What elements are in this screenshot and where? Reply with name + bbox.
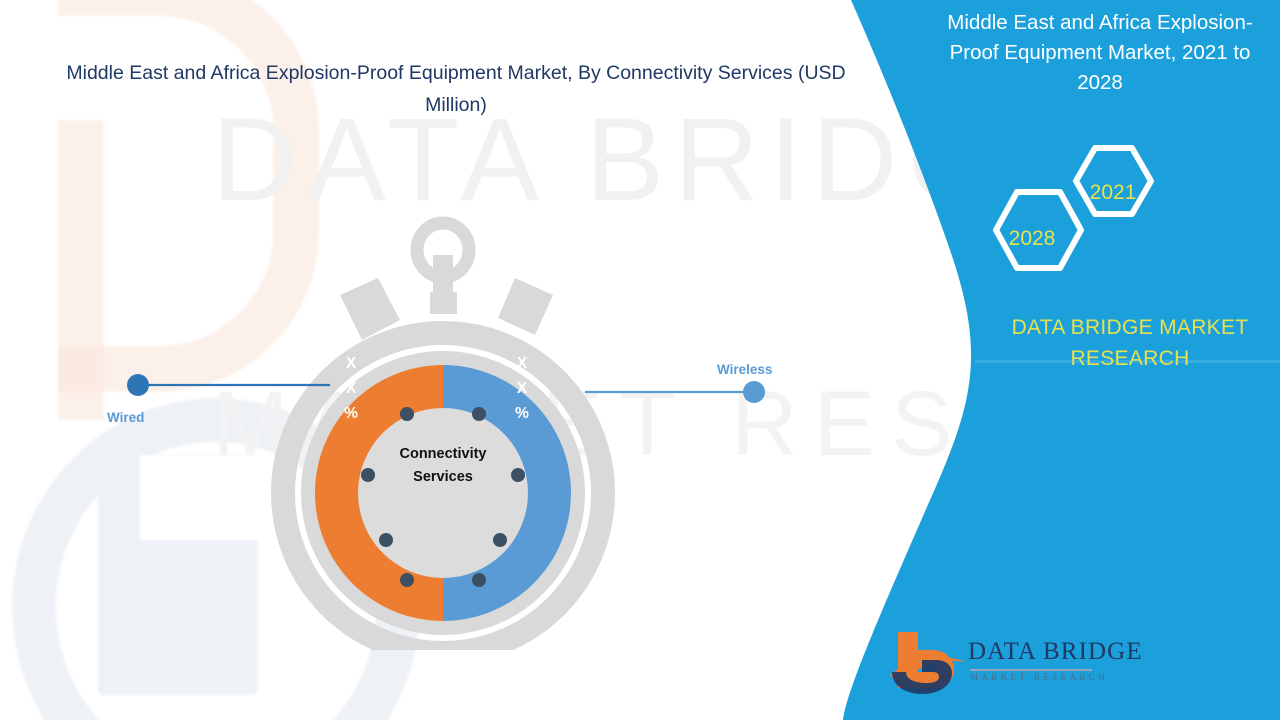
hexagon-start-year: 2021 [1073,181,1153,205]
panel-title: Middle East and Africa Explosion-Proof E… [930,8,1270,98]
hexagon-end-year: 2028 [992,227,1072,251]
year-hexagons: 2021 2028 [985,140,1195,280]
logo-wordmark: DATA BRIDGE [968,638,1143,666]
data-bridge-logo: DATA BRIDGE MARKET RESEARCH [888,628,1100,696]
infographic-slide: DATA BRIDGE MARKET RESEARCH Middle East … [0,0,1280,720]
logo-divider [970,669,1092,671]
logo-tagline: MARKET RESEARCH [970,672,1108,682]
logo-mark-icon [888,628,968,694]
panel-brand-text: DATA BRIDGE MARKET RESEARCH [960,312,1280,374]
